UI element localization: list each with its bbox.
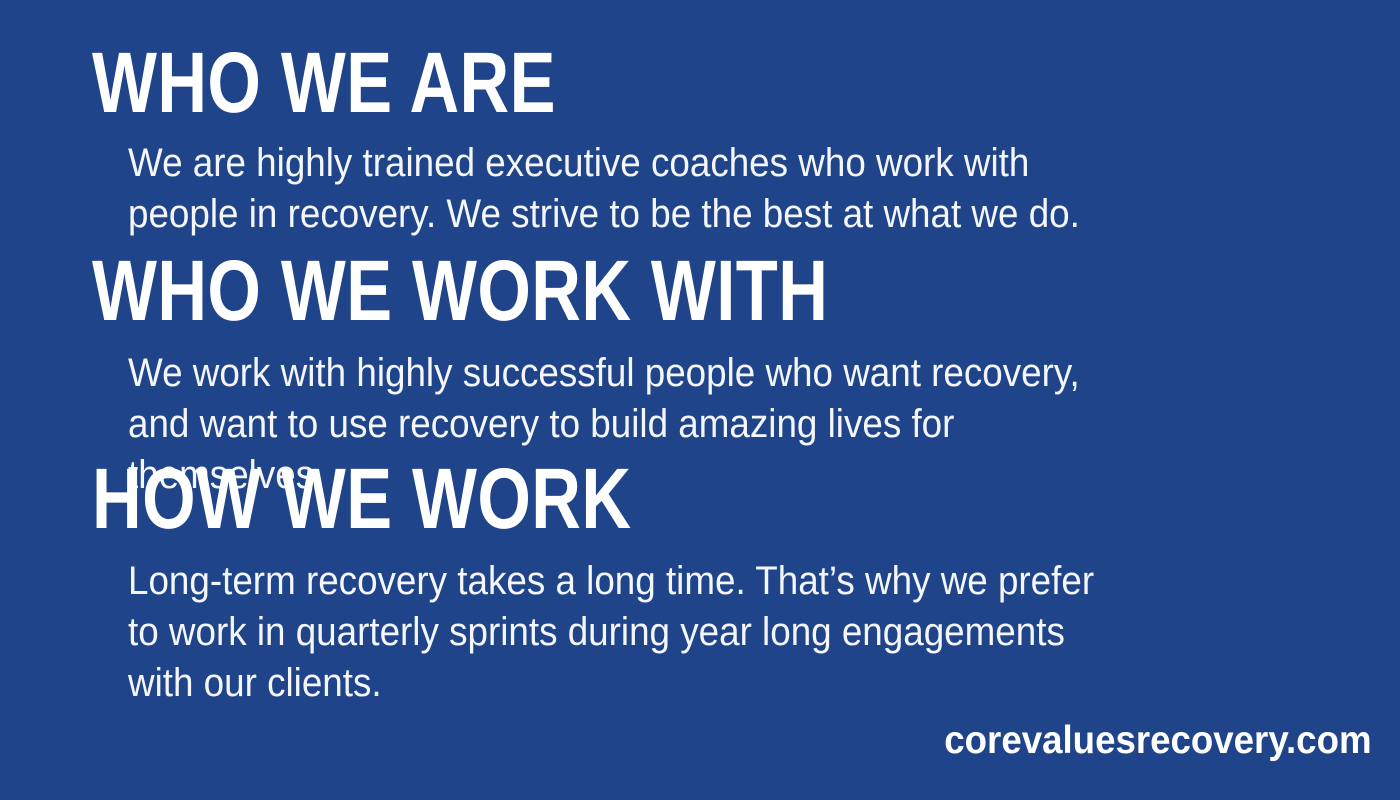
section-heading-who-we-are: WHO WE ARE xyxy=(92,44,1116,123)
section-who-we-are: WHO WE ARE We are highly trained executi… xyxy=(92,44,1372,240)
heading-row: HOW WE WORK xyxy=(92,460,1372,556)
slide-canvas: WHO WE ARE We are highly trained executi… xyxy=(0,0,1400,800)
section-body-how-we-work: Long-term recovery takes a long time. Th… xyxy=(128,556,1099,709)
slide-content: WHO WE ARE We are highly trained executi… xyxy=(0,0,1400,800)
section-how-we-work: HOW WE WORK Long-term recovery takes a l… xyxy=(92,460,1372,709)
section-heading-how-we-work: HOW WE WORK xyxy=(92,460,1116,539)
section-body-who-we-are: We are highly trained executive coaches … xyxy=(128,138,1099,240)
heading-row: WHO WE ARE xyxy=(92,44,1372,138)
heading-row: WHO WE WORK WITH xyxy=(92,252,1372,348)
section-heading-who-we-work-with: WHO WE WORK WITH xyxy=(92,252,1116,331)
footer-website-url[interactable]: corevaluesrecovery.com xyxy=(945,721,1372,760)
